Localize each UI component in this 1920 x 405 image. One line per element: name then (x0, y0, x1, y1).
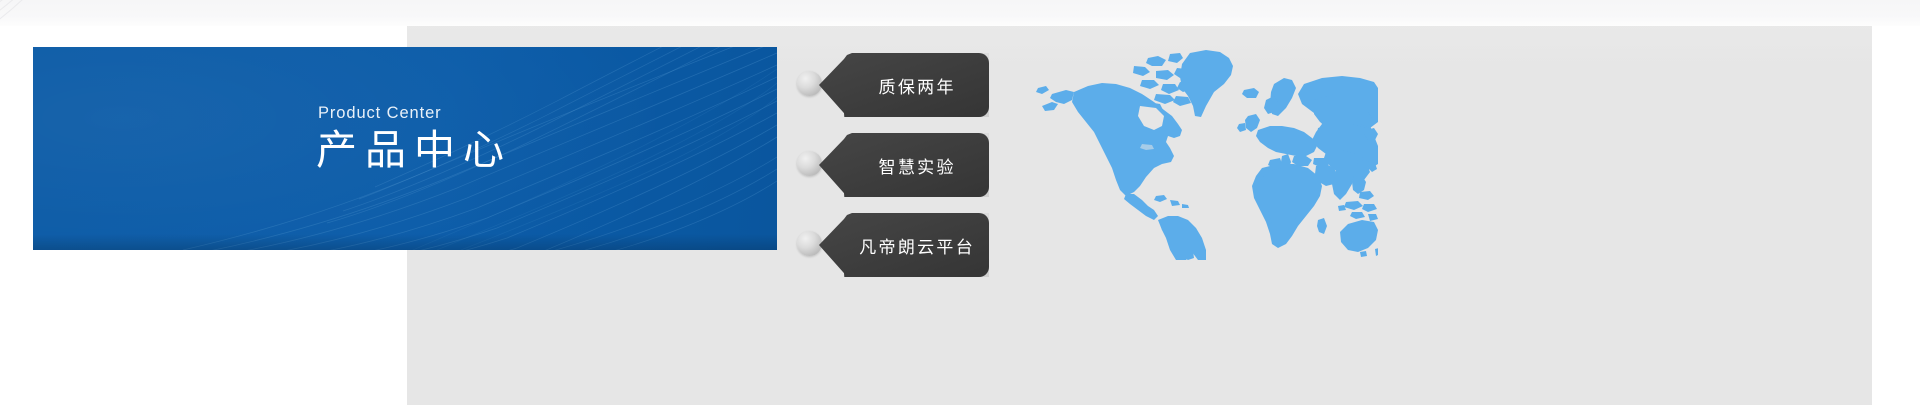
slide-background-far-right (1872, 0, 1920, 405)
hero-subtitle: Product Center (318, 104, 638, 123)
slide-canvas: Product Center 产品中心 质保两年 智慧实验 凡帝朗云平台 (0, 0, 1920, 405)
feature-badge-label: 质保两年 (876, 73, 956, 98)
feature-badge-label: 智慧实验 (876, 153, 956, 178)
world-map (1030, 44, 1378, 260)
list-item[interactable]: 质保两年 (797, 53, 997, 117)
feature-badge-cloud-platform[interactable]: 凡帝朗云平台 (819, 213, 989, 277)
sphere-bullet-icon (797, 231, 822, 256)
feature-badge-smart-lab[interactable]: 智慧实验 (819, 133, 989, 197)
sphere-bullet-icon (797, 151, 822, 176)
feature-badge-warranty[interactable]: 质保两年 (819, 53, 989, 117)
hero-panel: Product Center 产品中心 (33, 47, 777, 250)
list-item[interactable]: 智慧实验 (797, 133, 997, 197)
world-map-icon (1030, 44, 1378, 260)
sphere-bullet-icon (797, 71, 822, 96)
feature-badge-list: 质保两年 智慧实验 凡帝朗云平台 (797, 53, 997, 293)
feature-badge-label: 凡帝朗云平台 (857, 233, 975, 258)
list-item[interactable]: 凡帝朗云平台 (797, 213, 997, 277)
slide-top-band (0, 0, 1920, 26)
hero-title: 产品中心 (316, 127, 646, 174)
hero-text-block: Product Center 产品中心 (33, 47, 777, 250)
